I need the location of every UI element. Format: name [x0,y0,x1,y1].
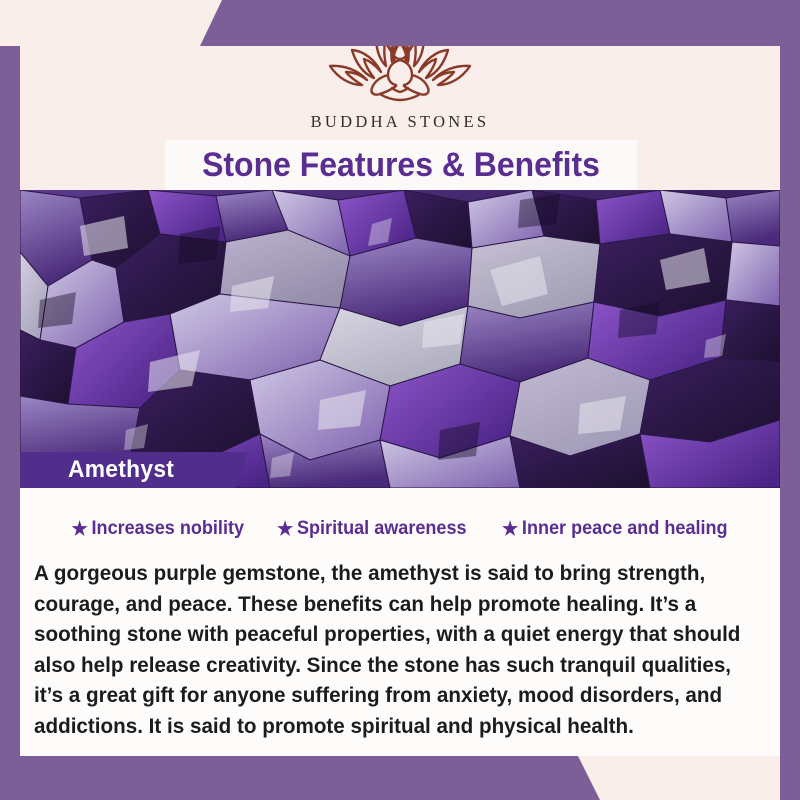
stone-name-label: Amethyst [68,456,174,484]
feature-label: Spiritual awareness [297,518,467,540]
feature-label: Increases nobility [91,518,243,540]
feature-item: ★ Inner peace and healing [502,518,728,540]
star-icon: ★ [71,520,87,539]
description-text: A gorgeous purple gemstone, the amethyst… [34,558,752,741]
brand-logo: BUDDHA STONES [0,22,800,140]
stone-name-banner: Amethyst [20,452,248,488]
lotus-meditation-icon [314,22,486,110]
features-row: ★ Increases nobility ★ Spiritual awarene… [20,518,780,540]
amethyst-photo [20,190,780,488]
brand-name: BUDDHA STONES [311,112,490,132]
star-icon: ★ [502,520,518,539]
star-icon: ★ [277,520,293,539]
feature-item: ★ Spiritual awareness [277,518,467,540]
feature-item: ★ Increases nobility [71,518,243,540]
frame-left-band [0,46,20,800]
feature-label: Inner peace and healing [522,518,728,540]
page-title: Stone Features & Benefits [179,140,623,190]
frame-bottom-band [0,756,600,800]
